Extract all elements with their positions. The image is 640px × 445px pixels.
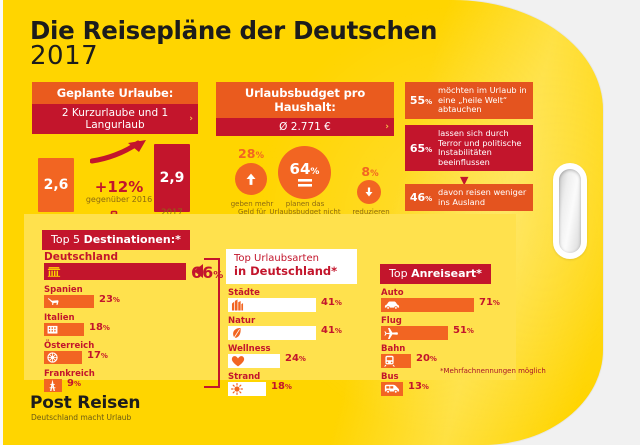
vacation-type-pct-2-unit: % bbox=[299, 355, 306, 363]
arrow-down-icon bbox=[357, 180, 381, 204]
stat-row-0-pct: 55% bbox=[405, 94, 437, 107]
vacation-types-card: Top Urlaubsarten in Deutschland* bbox=[226, 249, 357, 284]
stat-row-1-pct: 65% bbox=[405, 142, 437, 155]
chevron-right-icon: › bbox=[189, 114, 193, 124]
growth-subtext: gegenüber 2016 bbox=[82, 195, 156, 204]
travel-mode-pct-0-unit: % bbox=[493, 299, 500, 307]
destination-name-0: Deutschland bbox=[44, 251, 118, 263]
eiffel-tower-icon bbox=[47, 379, 58, 392]
travel-mode-pct-3: 13% bbox=[408, 381, 429, 392]
luggage-tag-slot bbox=[553, 163, 587, 259]
bus-icon bbox=[384, 383, 400, 394]
budget-pct-1-unit: % bbox=[310, 167, 319, 177]
destination-pct-3-unit: % bbox=[101, 352, 108, 360]
vacation-types-line2: in Deutschland* bbox=[234, 264, 337, 278]
bracket-connector bbox=[204, 258, 220, 388]
travel-mode-pct-3-value: 13 bbox=[408, 381, 422, 392]
ferris-wheel-icon bbox=[47, 352, 58, 363]
destination-pct-4-unit: % bbox=[74, 380, 81, 388]
equals-icon bbox=[295, 178, 315, 188]
vacation-type-pct-1-value: 41 bbox=[321, 325, 335, 336]
panel-planned-subtitle: 2 Kurzurlaube und 1 Langurlaub › bbox=[32, 104, 198, 134]
sun-icon bbox=[231, 383, 243, 395]
travel-mode-pct-0: 71% bbox=[479, 297, 500, 308]
footnote: *Mehrfachnennungen möglich bbox=[440, 367, 546, 375]
destination-bar-0 bbox=[44, 263, 186, 280]
destination-pct-1: 23% bbox=[99, 294, 120, 305]
vacation-type-pct-2: 24% bbox=[285, 353, 306, 364]
bar-2016-value: 2,6 bbox=[44, 177, 69, 193]
vacation-type-pct-0-unit: % bbox=[335, 299, 342, 307]
heart-icon bbox=[231, 355, 245, 367]
stat-row-2-pct: 46% bbox=[405, 191, 437, 204]
stat-row-1-text: lassen sich durch Terror und politische … bbox=[437, 125, 533, 171]
vacation-type-pct-2-value: 24 bbox=[285, 353, 299, 364]
budget-pct-0-unit: % bbox=[255, 151, 264, 161]
budget-pct-0-value: 28 bbox=[238, 146, 255, 161]
destination-pct-1-unit: % bbox=[113, 296, 120, 304]
travel-mode-pct-1: 51% bbox=[453, 325, 474, 336]
destinations-chip: Top 5 Destinationen:* bbox=[42, 228, 190, 250]
leaf-icon bbox=[231, 327, 243, 339]
panel-budget-subtitle: Ø 2.771 € › bbox=[216, 118, 394, 136]
arrow-up-right-icon bbox=[90, 138, 150, 164]
travel-mode-name-3: Bus bbox=[381, 372, 399, 382]
buildings-icon bbox=[231, 299, 244, 311]
travel-mode-name-0: Auto bbox=[381, 288, 404, 298]
destination-pct-4: 9% bbox=[67, 378, 81, 389]
stat-row-0: 55% möchten im Urlaub in eine „heile Wel… bbox=[405, 82, 533, 119]
bracket-arrow-icon bbox=[194, 264, 203, 278]
destination-pct-3-value: 17 bbox=[87, 350, 101, 361]
budget-pct-1-value: 64 bbox=[290, 160, 311, 178]
budget-pct-2-value: 8 bbox=[361, 164, 370, 179]
budget-pct-2: 8% bbox=[348, 164, 392, 179]
travel-mode-pct-2-unit: % bbox=[430, 355, 437, 363]
travel-mode-chip-prefix: Top bbox=[389, 267, 411, 280]
travel-mode-chip: Top Anreiseart* bbox=[380, 262, 491, 284]
destination-pct-2-value: 18 bbox=[89, 322, 103, 333]
arrow-up-icon bbox=[235, 163, 267, 195]
budget-pct-1: 64% bbox=[290, 160, 320, 178]
bull-icon bbox=[47, 297, 60, 306]
stat-row-1-value: 65 bbox=[410, 142, 425, 155]
destination-pct-1-value: 23 bbox=[99, 294, 113, 305]
train-icon bbox=[384, 355, 395, 367]
stat-row-0-unit: % bbox=[425, 98, 432, 106]
page-year: 2017 bbox=[30, 41, 98, 71]
budget-pct-2-unit: % bbox=[370, 169, 379, 179]
travel-mode-chip-bold: Anreiseart* bbox=[411, 267, 482, 280]
stat-row-0-text: möchten im Urlaub in eine „heile Welt“ a… bbox=[437, 82, 533, 119]
vacation-type-pct-3-unit: % bbox=[285, 383, 292, 391]
destination-pct-3: 17% bbox=[87, 350, 108, 361]
destinations-chip-prefix: Top 5 bbox=[51, 233, 84, 246]
chevron-right-icon: › bbox=[385, 122, 389, 132]
vacation-type-name-2: Wellness bbox=[228, 344, 271, 354]
vacation-type-pct-3-value: 18 bbox=[271, 381, 285, 392]
stat-row-2: 46% davon reisen weniger ins Ausland bbox=[405, 184, 533, 211]
vacation-type-pct-1-unit: % bbox=[335, 327, 342, 335]
travel-mode-pct-2-value: 20 bbox=[416, 353, 430, 364]
vacation-type-pct-0-value: 41 bbox=[321, 297, 335, 308]
stat-row-2-value: 46 bbox=[410, 191, 425, 204]
stat-row-0-value: 55 bbox=[410, 94, 425, 107]
destination-pct-4-value: 9 bbox=[67, 378, 74, 389]
destination-pct-2-unit: % bbox=[103, 324, 110, 332]
growth-annotation: +12% gegenüber 2016 bbox=[82, 178, 156, 204]
vacation-type-pct-3: 18% bbox=[271, 381, 292, 392]
luggage-tag-slot-inner bbox=[559, 169, 581, 253]
travel-mode-pct-1-unit: % bbox=[467, 327, 474, 335]
travel-mode-pct-0-value: 71 bbox=[479, 297, 493, 308]
bar-2017-value: 2,9 bbox=[160, 170, 185, 186]
bar-2017: 2,9 bbox=[154, 144, 190, 212]
car-icon bbox=[384, 300, 400, 310]
panel-planned-title: Geplante Urlaube: bbox=[32, 82, 198, 104]
destination-pct-2: 18% bbox=[89, 322, 110, 333]
travel-mode-pct-2: 20% bbox=[416, 353, 437, 364]
vacation-type-pct-1: 41% bbox=[321, 325, 342, 336]
stat-row-1: 65% lassen sich durch Terror und politis… bbox=[405, 125, 533, 171]
panel-vacation-budget: Urlaubsbudget pro Haushalt: Ø 2.771 € › … bbox=[216, 82, 394, 236]
destination-name-1: Spanien bbox=[44, 285, 83, 295]
vacation-type-name-0: Städte bbox=[228, 288, 260, 298]
brand-name: Post Reisen bbox=[30, 393, 140, 413]
tag-left-edge bbox=[0, 0, 3, 445]
travel-mode-pct-3-unit: % bbox=[422, 383, 429, 391]
destinations-chip-bold: Destinationen:* bbox=[84, 233, 181, 246]
stat-row-2-unit: % bbox=[425, 195, 432, 203]
vacation-type-name-1: Natur bbox=[228, 316, 255, 326]
travel-mode-pct-1-value: 51 bbox=[453, 325, 467, 336]
stat-row-2-text: davon reisen weniger ins Ausland bbox=[437, 184, 533, 211]
budget-pct-0: 28% bbox=[228, 146, 274, 161]
stat-row-1-unit: % bbox=[425, 146, 432, 154]
brandenburg-gate-icon bbox=[47, 266, 61, 277]
budget-circle-1: 64% bbox=[278, 146, 331, 199]
colosseum-icon bbox=[47, 325, 58, 334]
destination-name-2: Italien bbox=[44, 313, 75, 323]
travel-mode-name-1: Flug bbox=[381, 316, 402, 326]
plane-icon bbox=[384, 327, 398, 339]
panel-planned-subtitle-text: 2 Kurzurlaube und 1 Langurlaub bbox=[62, 107, 168, 131]
travel-mode-chip-inner: Top Anreiseart* bbox=[380, 264, 491, 284]
bar-2016: 2,6 bbox=[38, 158, 74, 212]
panel-budget-title: Urlaubsbudget pro Haushalt: bbox=[216, 82, 394, 118]
brand-tagline: Deutschland macht Urlaub bbox=[31, 413, 131, 422]
vacation-type-pct-0: 41% bbox=[321, 297, 342, 308]
travel-mode-name-2: Bahn bbox=[381, 344, 405, 354]
panel-budget-subtitle-text: Ø 2.771 € bbox=[279, 121, 331, 133]
destinations-chip-inner: Top 5 Destinationen:* bbox=[42, 230, 190, 250]
growth-value: +12% bbox=[82, 178, 156, 196]
vacation-type-name-3: Strand bbox=[228, 372, 260, 382]
infographic-canvas: Die Reisepläne der Deutschen 2017 Geplan… bbox=[0, 0, 640, 445]
panel-planned-vacations: Geplante Urlaube: 2 Kurzurlaube und 1 La… bbox=[32, 82, 198, 234]
